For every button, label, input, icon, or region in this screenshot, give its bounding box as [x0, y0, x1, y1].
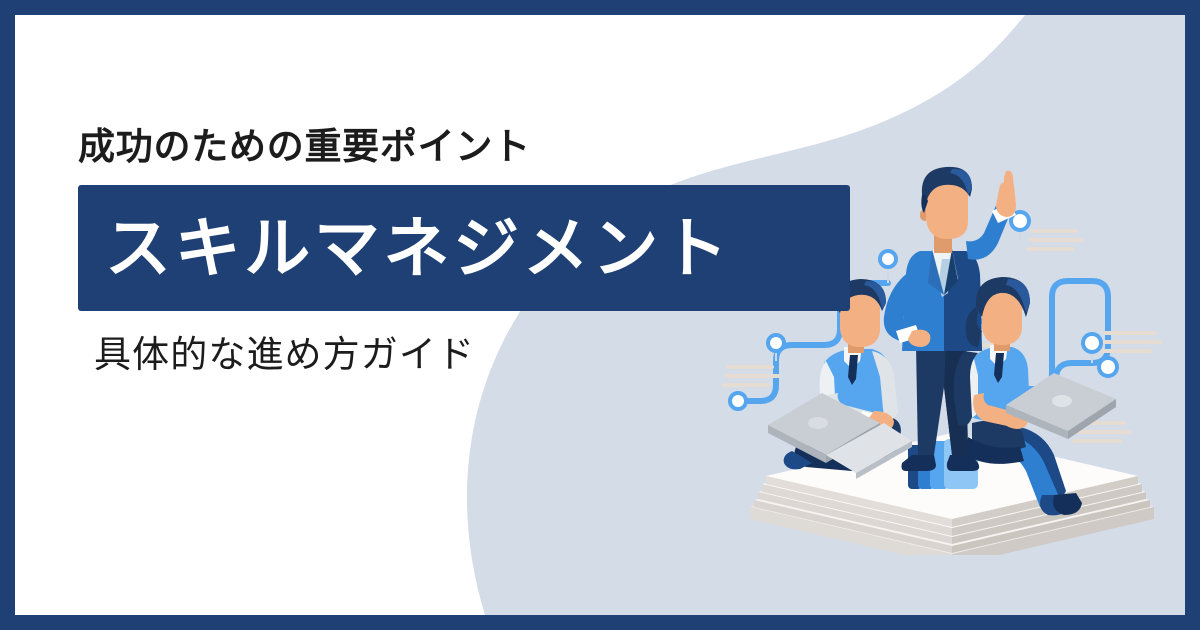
- page-title: スキルマネジメント: [105, 215, 732, 281]
- banner-canvas: 成功のための重要ポイント スキルマネジメント 具体的な進め方ガイド: [0, 0, 1200, 630]
- headline-group: 成功のための重要ポイント スキルマネジメント 具体的な進め方ガイド: [78, 125, 868, 378]
- eyebrow-text: 成功のための重要ポイント: [78, 125, 868, 169]
- banner-inner-card: 成功のための重要ポイント スキルマネジメント 具体的な進め方ガイド: [15, 15, 1185, 615]
- title-band: スキルマネジメント: [78, 185, 850, 311]
- subtitle-text: 具体的な進め方ガイド: [94, 333, 868, 377]
